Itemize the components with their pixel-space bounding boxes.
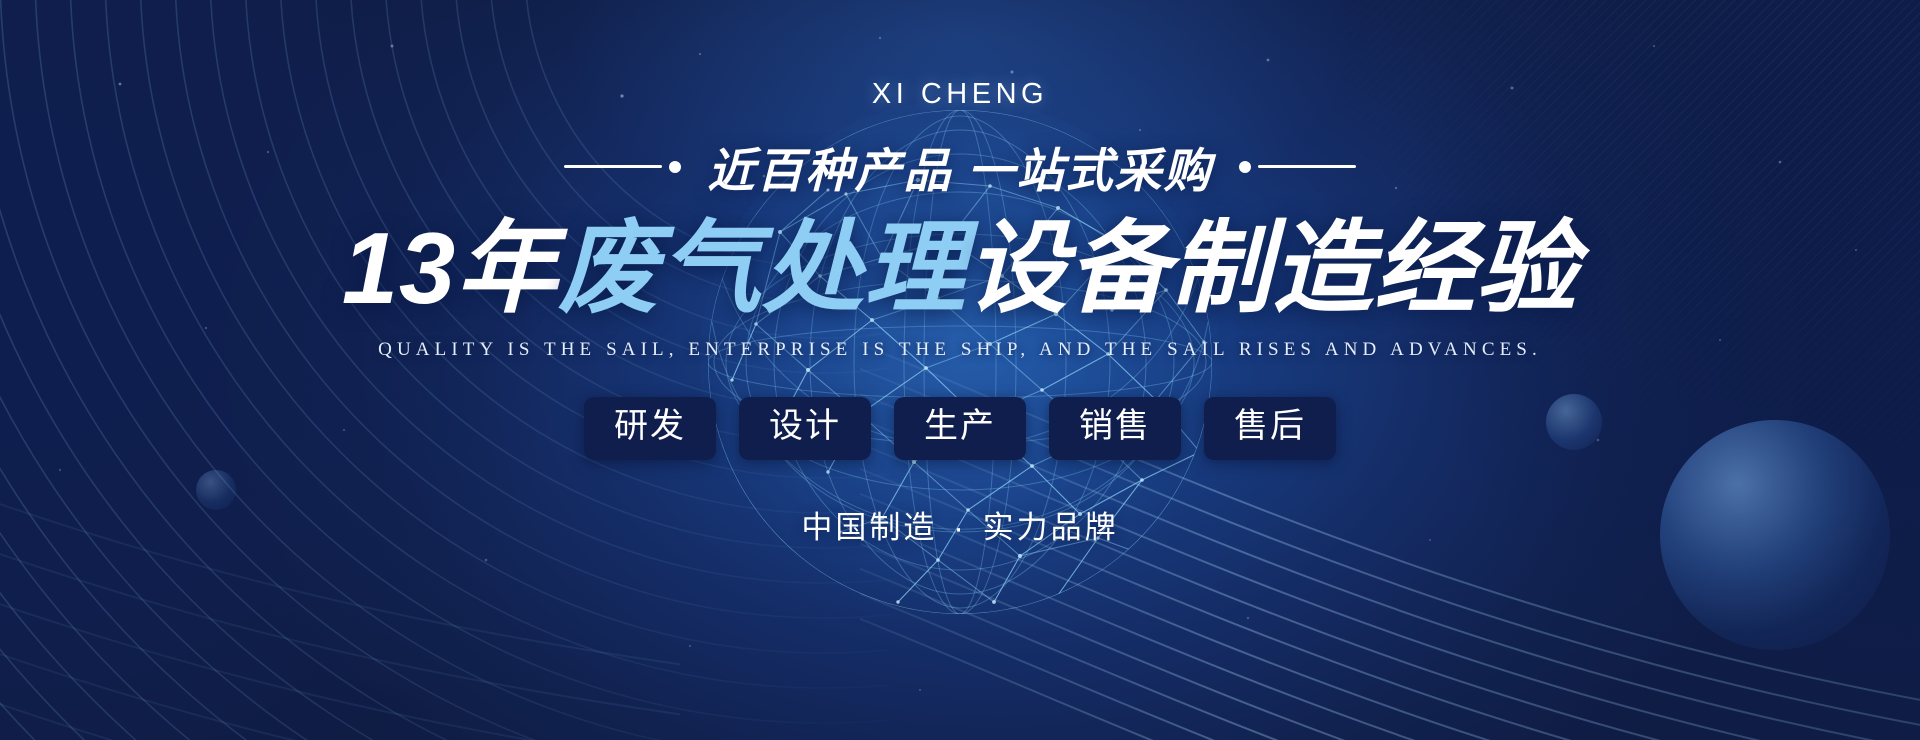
service-pill-rd[interactable]: 研发	[584, 397, 716, 460]
banner-content: XI CHENG 近百种产品 一站式采购 13年废气处理设备制造经验 QUALI…	[0, 0, 1920, 740]
decorative-line-dot-left	[564, 161, 681, 173]
decorative-dot-line-right	[1239, 161, 1356, 173]
service-pill-production[interactable]: 生产	[894, 397, 1026, 460]
footer-slogan-left: 中国制造	[801, 510, 937, 545]
brand-name-english: XI CHENG	[872, 78, 1048, 111]
deco-line-left-icon	[564, 165, 662, 168]
subtitle-text: 近百种产品 一站式采购	[707, 132, 1212, 201]
headline-part-1: 13年	[342, 213, 558, 325]
deco-line-right-icon	[1258, 165, 1356, 168]
footer-separator-icon: ·	[937, 510, 982, 545]
hero-banner: XI CHENG 近百种产品 一站式采购 13年废气处理设备制造经验 QUALI…	[0, 0, 1920, 740]
service-pill-design[interactable]: 设计	[739, 397, 871, 460]
service-pill-row[interactable]: 研发 设计 生产 销售 售后	[584, 397, 1336, 460]
english-tagline: QUALITY IS THE SAIL, ENTERPRISE IS THE S…	[378, 339, 1542, 361]
subtitle-row: 近百种产品 一站式采购	[564, 132, 1355, 201]
service-pill-aftersales[interactable]: 售后	[1204, 397, 1336, 460]
headline: 13年废气处理设备制造经验	[342, 213, 1578, 326]
footer-slogan-right: 实力品牌	[983, 510, 1119, 545]
headline-part-2: 设备制造经验	[966, 213, 1578, 325]
footer-slogan: 中国制造·实力品牌	[801, 502, 1118, 547]
headline-highlight: 废气处理	[558, 213, 966, 325]
deco-dot-left-icon	[669, 161, 681, 173]
service-pill-sales[interactable]: 销售	[1049, 397, 1181, 460]
deco-dot-right-icon	[1239, 161, 1251, 173]
